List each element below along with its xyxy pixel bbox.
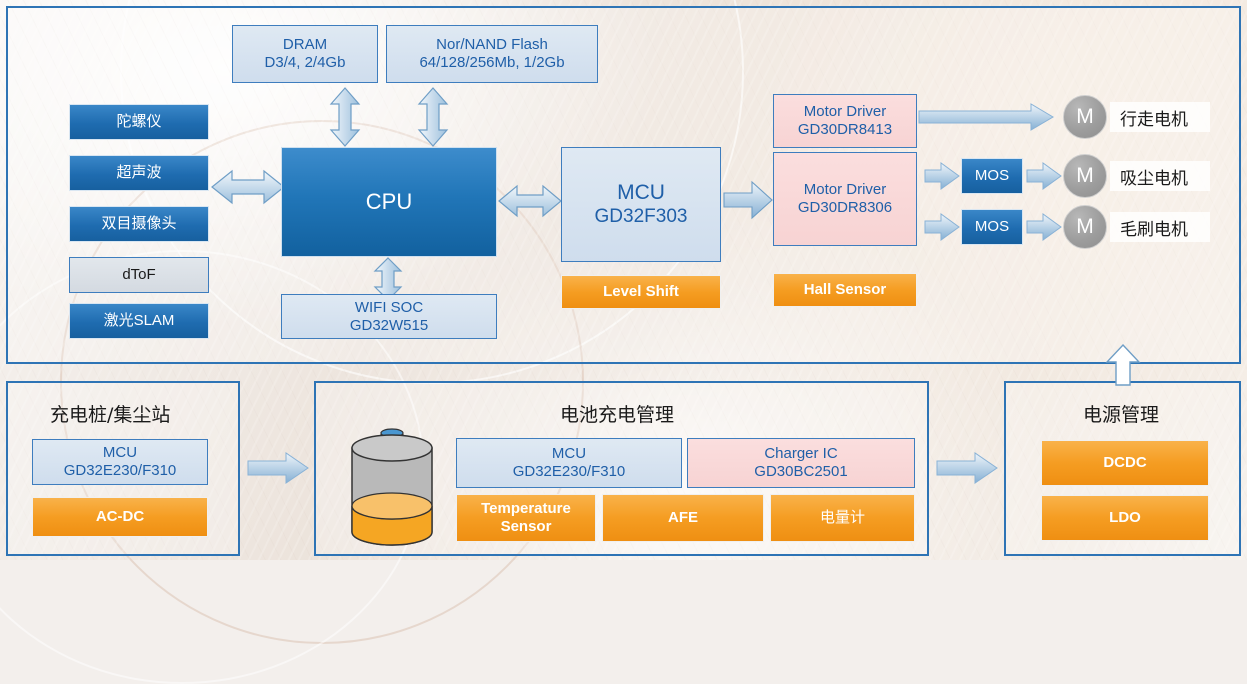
- afe-label: AFE: [668, 509, 698, 527]
- mos-label: MOS: [975, 167, 1009, 185]
- sensor-gyroscope[interactable]: 陀螺仪: [69, 104, 209, 140]
- motor-symbol: M: [1076, 105, 1094, 129]
- memory-dram[interactable]: DRAM D3/4, 2/4Gb: [232, 25, 378, 83]
- sensor-stereo-camera[interactable]: 双目摄像头: [69, 206, 209, 242]
- dock-mcu-title: MCU: [103, 444, 137, 462]
- battery-mcu-part: GD32E230/F310: [513, 463, 626, 481]
- sensors-cpu-arrow: [212, 163, 284, 211]
- memory-spec: D3/4, 2/4Gb: [265, 54, 346, 72]
- wifi-soc-block[interactable]: WIFI SOC GD32W515: [281, 294, 497, 339]
- dcdc-label: DCDC: [1103, 454, 1146, 472]
- temp-line1: Temperature: [481, 500, 571, 518]
- mos-block-2[interactable]: MOS: [961, 209, 1023, 245]
- flash-cpu-arrow: [417, 88, 449, 146]
- motor-circle-brush: M: [1063, 205, 1107, 249]
- driver-mos2-arrow: [925, 213, 959, 241]
- memory-spec: 64/128/256Mb, 1/2Gb: [419, 54, 564, 72]
- mcu-title: MCU: [617, 181, 665, 206]
- charger-ic-block[interactable]: Charger IC GD30BC2501: [687, 438, 915, 488]
- level-shift-label: Level Shift: [603, 283, 679, 301]
- motor-circle-vacuum: M: [1063, 154, 1107, 198]
- driver-title: Motor Driver: [804, 181, 887, 199]
- mcu-motordriver-arrow: [724, 180, 772, 220]
- level-shift-block[interactable]: Level Shift: [561, 275, 721, 309]
- sensor-laser-slam[interactable]: 激光SLAM: [69, 303, 209, 339]
- charger-part: GD30BC2501: [754, 463, 847, 481]
- memory-flash[interactable]: Nor/NAND Flash 64/128/256Mb, 1/2Gb: [386, 25, 598, 83]
- power-management-title: 电源管理: [1083, 400, 1159, 427]
- memory-title: DRAM: [283, 36, 327, 54]
- sensor-ultrasonic[interactable]: 超声波: [69, 155, 209, 191]
- driver-motor1-arrow: [919, 103, 1053, 131]
- motor-symbol: M: [1076, 164, 1094, 188]
- charging-dock-title-text: 充电桩/集尘站: [50, 404, 170, 426]
- mos-block-1[interactable]: MOS: [961, 158, 1023, 194]
- fuel-gauge-block[interactable]: 电量计: [770, 494, 915, 542]
- battery-mcu-title: MCU: [552, 445, 586, 463]
- ldo-label: LDO: [1109, 509, 1141, 527]
- power-mainboard-up-arrow: [1106, 345, 1140, 385]
- sensor-dtof[interactable]: dToF: [69, 257, 209, 293]
- fuel-gauge-label: 电量计: [820, 509, 865, 527]
- sensor-label: 双目摄像头: [101, 215, 176, 233]
- dock-battery-arrow: [248, 452, 308, 484]
- charger-title: Charger IC: [764, 445, 837, 463]
- battery-power-arrow: [937, 452, 997, 484]
- wifi-part: GD32W515: [350, 317, 428, 335]
- cpu-block[interactable]: CPU: [281, 147, 497, 257]
- motor-name: 行走电机: [1120, 105, 1188, 130]
- motor-name: 吸尘电机: [1120, 164, 1188, 189]
- sensor-label: 超声波: [116, 164, 161, 182]
- hall-sensor-block[interactable]: Hall Sensor: [773, 273, 917, 307]
- temperature-sensor-block[interactable]: Temperature Sensor: [456, 494, 596, 542]
- afe-block[interactable]: AFE: [602, 494, 764, 542]
- dock-acdc-block[interactable]: AC-DC: [32, 497, 208, 537]
- sensor-label: 激光SLAM: [104, 312, 175, 330]
- dock-acdc-label: AC-DC: [96, 508, 144, 526]
- mcu-gd32f303-block[interactable]: MCU GD32F303: [561, 147, 721, 262]
- sensor-label: dToF: [122, 266, 155, 284]
- battery-management-title-text: 电池充电管理: [560, 404, 674, 426]
- motor-label-brush: 毛刷电机: [1110, 212, 1210, 242]
- temp-line2: Sensor: [501, 518, 552, 536]
- mos1-motor2-arrow: [1027, 162, 1061, 190]
- dcdc-block[interactable]: DCDC: [1041, 440, 1209, 486]
- cpu-label: CPU: [366, 189, 412, 215]
- motor-name: 毛刷电机: [1120, 215, 1188, 240]
- driver-mos1-arrow: [925, 162, 959, 190]
- dock-mcu-part: GD32E230/F310: [64, 462, 177, 480]
- ldo-block[interactable]: LDO: [1041, 495, 1209, 541]
- motor-label-travel: 行走电机: [1110, 102, 1210, 132]
- motor-label-vacuum: 吸尘电机: [1110, 161, 1210, 191]
- cpu-mcu-arrow: [499, 178, 561, 224]
- mos2-motor3-arrow: [1027, 213, 1061, 241]
- dram-cpu-arrow: [329, 88, 361, 146]
- charging-dock-title: 充电桩/集尘站: [50, 400, 170, 427]
- motor-driver-gd30dr8306[interactable]: Motor Driver GD30DR8306: [773, 152, 917, 246]
- wifi-title: WIFI SOC: [355, 299, 423, 317]
- driver-part: GD30DR8413: [798, 121, 892, 139]
- motor-driver-gd30dr8413[interactable]: Motor Driver GD30DR8413: [773, 94, 917, 148]
- mos-label: MOS: [975, 218, 1009, 236]
- dock-mcu-block[interactable]: MCU GD32E230/F310: [32, 439, 208, 485]
- driver-title: Motor Driver: [804, 103, 887, 121]
- sensor-label: 陀螺仪: [116, 113, 161, 131]
- battery-mcu-block[interactable]: MCU GD32E230/F310: [456, 438, 682, 488]
- battery-illustration: [330, 428, 450, 550]
- driver-part: GD30DR8306: [798, 199, 892, 217]
- memory-title: Nor/NAND Flash: [436, 36, 548, 54]
- power-management-title-text: 电源管理: [1083, 404, 1159, 426]
- motor-symbol: M: [1076, 215, 1094, 239]
- motor-circle-travel: M: [1063, 95, 1107, 139]
- hall-sensor-label: Hall Sensor: [804, 281, 887, 299]
- mcu-part: GD32F303: [595, 206, 688, 228]
- battery-management-title: 电池充电管理: [560, 400, 674, 427]
